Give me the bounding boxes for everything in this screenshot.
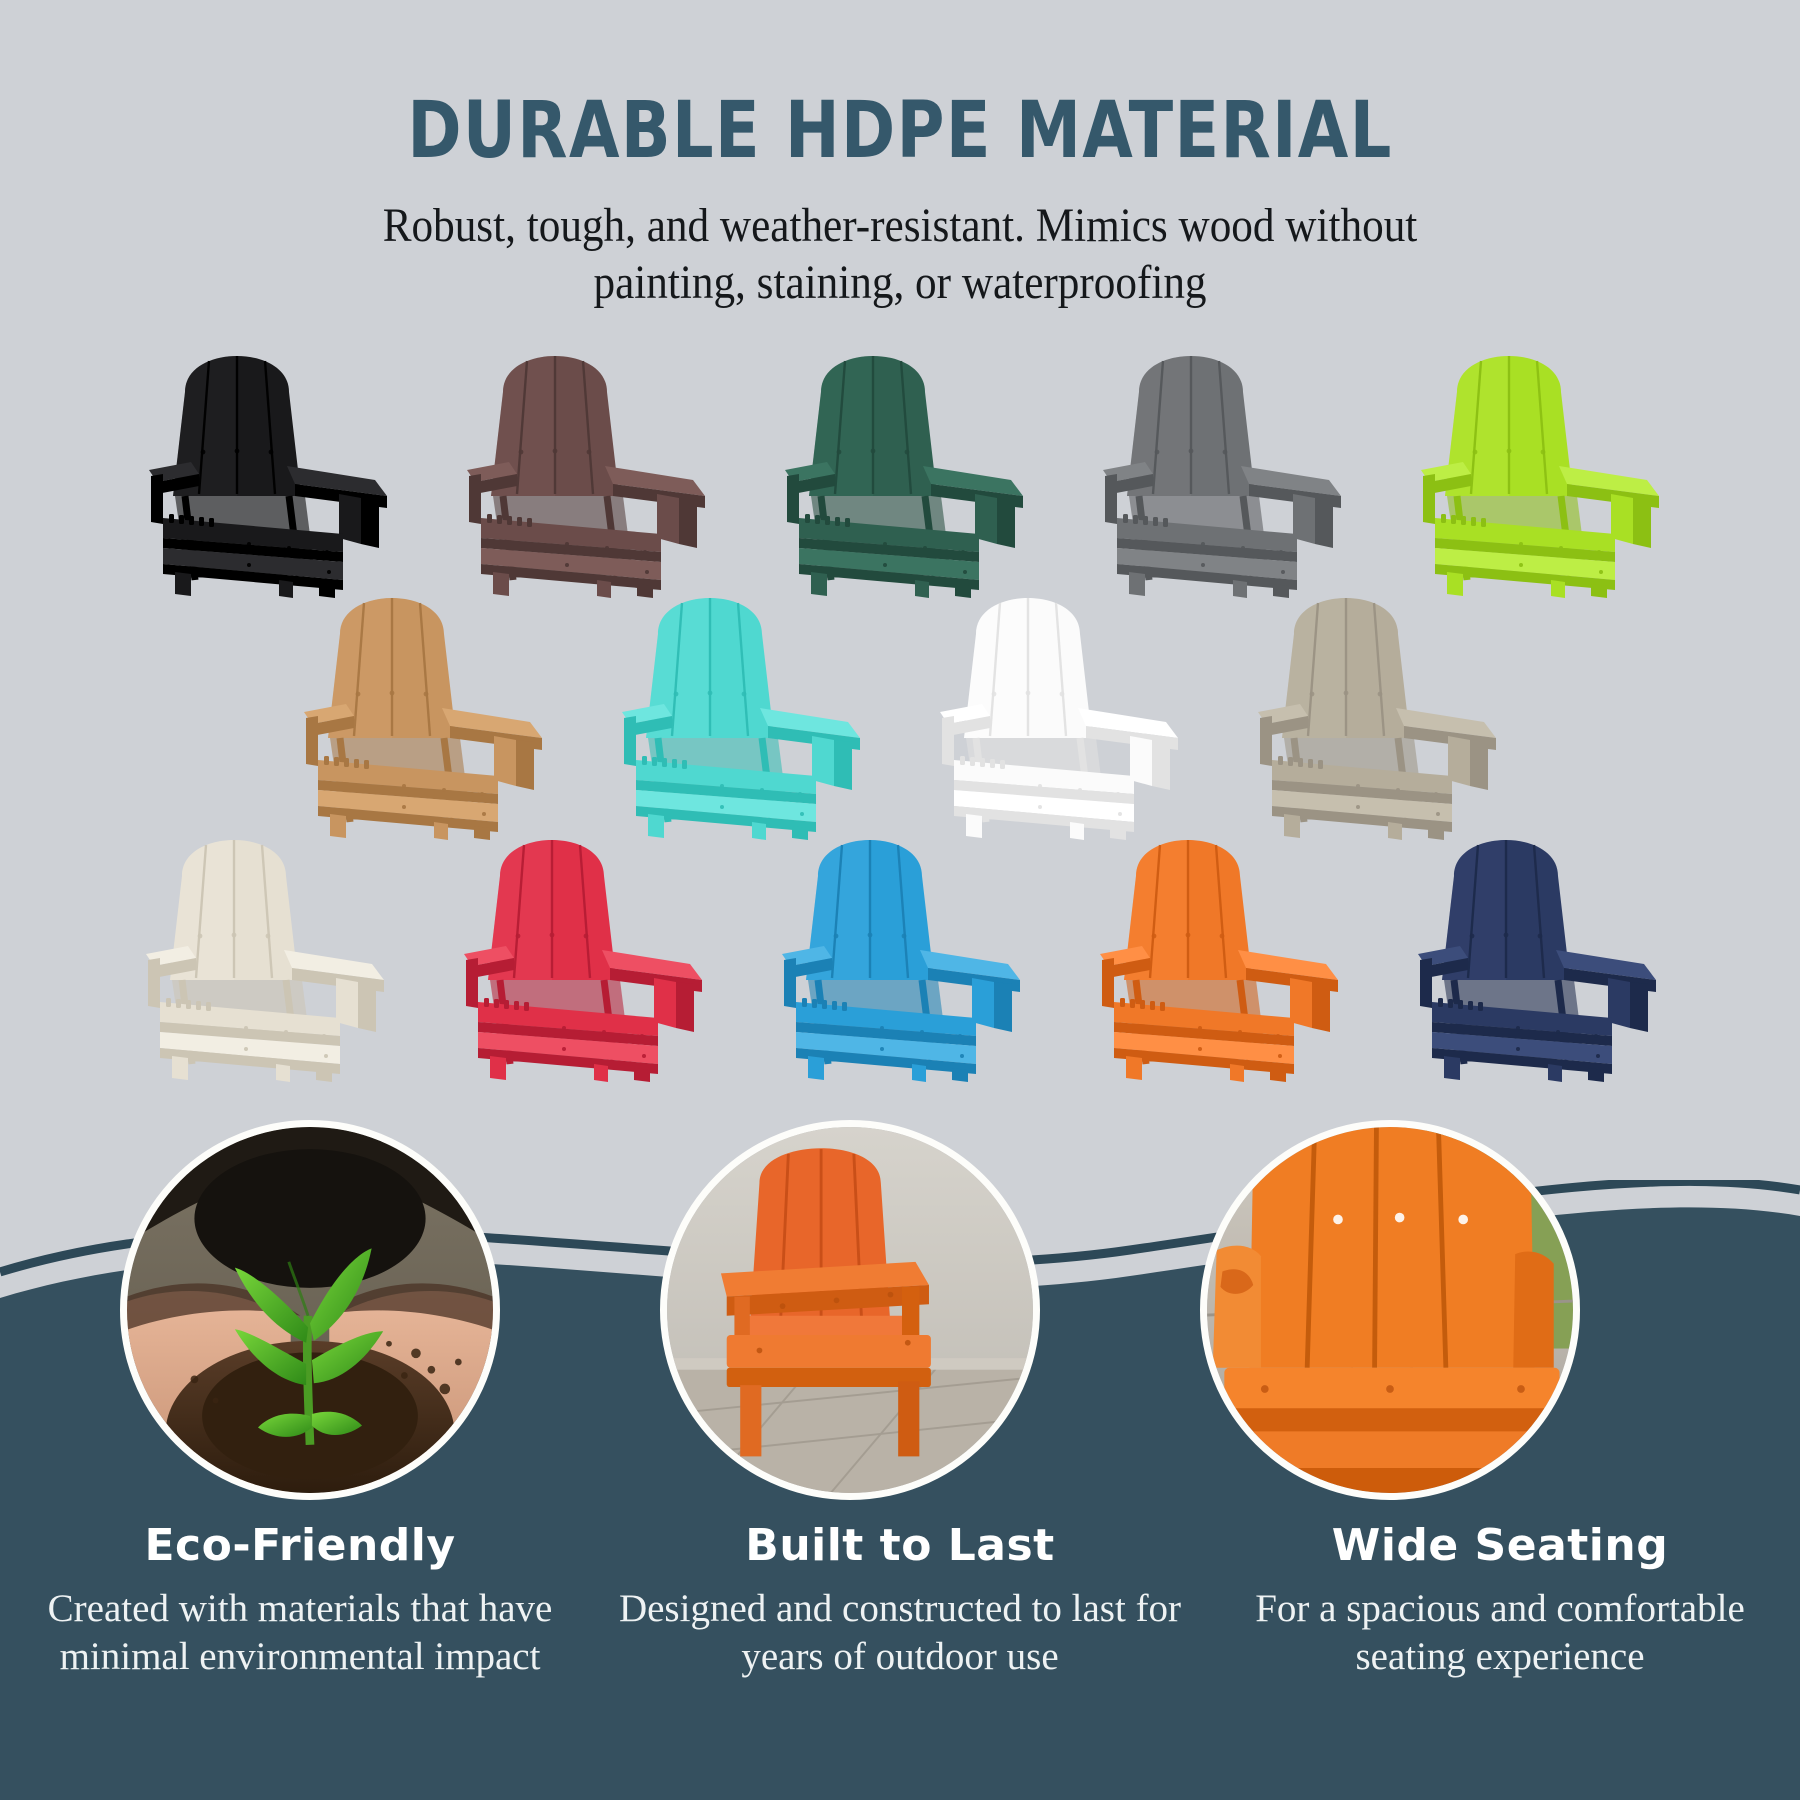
feature-image-eco-friendly (120, 1120, 500, 1500)
chair-swatch-lime-green[interactable] (1401, 348, 1681, 598)
chair-swatch-dark-green[interactable] (765, 348, 1045, 598)
feature-wide-seating: Wide Seating For a spacious and comforta… (1200, 1520, 1800, 1680)
chair-turquoise (602, 590, 882, 840)
chair-color-grid (0, 348, 1800, 1082)
chair-swatch-teak[interactable] (284, 590, 564, 840)
feature-built-to-last: Built to Last Designed and constructed t… (600, 1520, 1200, 1680)
feature-image-wide-seating (1200, 1120, 1580, 1500)
feature-title: Wide Seating (1218, 1520, 1782, 1571)
chair-swatch-gray[interactable] (1083, 348, 1363, 598)
feature-title: Eco-Friendly (18, 1520, 582, 1571)
chair-dark-green (765, 348, 1045, 598)
chair-brown (447, 348, 727, 598)
header: DURABLE HDPE MATERIAL Robust, tough, and… (0, 0, 1800, 311)
chair-swatch-weathered-wood[interactable] (1238, 590, 1518, 840)
chair-red (444, 832, 724, 1082)
feature-caption-row: Eco-Friendly Created with materials that… (0, 1520, 1800, 1680)
feature-image-built-to-last (660, 1120, 1040, 1500)
chair-swatch-black[interactable] (129, 348, 409, 598)
chair-swatch-brown[interactable] (447, 348, 727, 598)
feature-description: Created with materials that have minimal… (18, 1585, 582, 1680)
chair-swatch-ivory[interactable] (126, 832, 406, 1082)
chair-row-3 (0, 832, 1800, 1082)
feature-title: Built to Last (618, 1520, 1182, 1571)
chair-row-2 (0, 590, 1800, 840)
orange-adirondack-chair-on-patio-photo (667, 1127, 1033, 1493)
feature-eco-friendly: Eco-Friendly Created with materials that… (0, 1520, 600, 1680)
chair-swatch-navy-blue[interactable] (1398, 832, 1678, 1082)
chair-swatch-light-blue[interactable] (762, 832, 1042, 1082)
infographic-canvas: DURABLE HDPE MATERIAL Robust, tough, and… (0, 0, 1800, 1800)
page-subtitle: Robust, tough, and weather-resistant. Mi… (329, 170, 1472, 311)
feature-image-circles (0, 1120, 1800, 1500)
chair-orange (1080, 832, 1360, 1082)
chair-white (920, 590, 1200, 840)
chair-swatch-orange[interactable] (1080, 832, 1360, 1082)
chair-row-1 (0, 348, 1800, 598)
feature-description: For a spacious and comfortable seating e… (1218, 1585, 1782, 1680)
hands-holding-seedling-photo (127, 1127, 493, 1493)
chair-teak (284, 590, 564, 840)
feature-description: Designed and constructed to last for yea… (618, 1585, 1182, 1680)
chair-swatch-white[interactable] (920, 590, 1200, 840)
chair-swatch-turquoise[interactable] (602, 590, 882, 840)
chair-navy-blue (1398, 832, 1678, 1082)
chair-light-blue (762, 832, 1042, 1082)
orange-chair-wide-seat-closeup-photo (1207, 1127, 1573, 1493)
chair-weathered-wood (1238, 590, 1518, 840)
page-title: DURABLE HDPE MATERIAL (63, 0, 1737, 170)
chair-lime-green (1401, 348, 1681, 598)
chair-black (129, 348, 409, 598)
chair-swatch-red[interactable] (444, 832, 724, 1082)
chair-gray (1083, 348, 1363, 598)
chair-ivory (126, 832, 406, 1082)
